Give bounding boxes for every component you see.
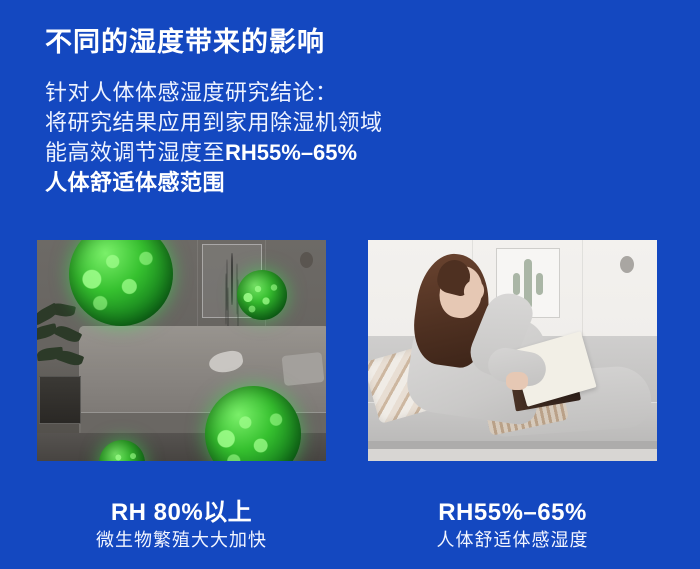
comparison-panels [37,240,663,461]
caption-subtitle: 微生物繁殖大大加快 [37,527,326,553]
intro-paragraph: 针对人体体感湿度研究结论： 将研究结果应用到家用除湿机领域 能高效调节湿度至RH… [45,78,383,198]
wall-knob-icon [300,252,313,268]
dark-room-scene [37,240,326,461]
microbe-cluster-icon [69,240,173,326]
floor-light [368,449,657,461]
caption-high-humidity: RH 80%以上 微生物繁殖大大加快 [37,498,326,553]
body-line-3-prefix: 能高效调节湿度至 [45,140,225,165]
leaf-icon [54,323,83,345]
caption-title: RH 80%以上 [37,498,326,527]
sofa-cushion [282,352,325,386]
body-line-1: 针对人体体感湿度研究结论： [45,78,383,108]
person-hand-holding-book [506,372,528,390]
microbe-cluster-icon [99,440,145,461]
light-room-scene [368,240,657,461]
microbe-cluster-icon [205,386,301,461]
page-title: 不同的湿度带来的影响 [45,20,325,59]
caption-title: RH55%–65% [368,498,657,527]
caption-subtitle: 人体舒适体感湿度 [368,527,657,553]
panel-high-humidity-image [37,240,326,461]
panel-comfort-humidity-image [368,240,657,461]
plant-pot [39,376,81,424]
microbe-cluster-icon [237,270,287,320]
body-line-4: 人体舒适体感范围 [45,168,383,198]
wall-knob-icon [620,256,634,273]
humidity-infographic-poster: 不同的湿度带来的影响 针对人体体感湿度研究结论： 将研究结果应用到家用除湿机领域… [0,0,700,569]
caption-comfort-humidity: RH55%–65% 人体舒适体感湿度 [368,498,657,553]
body-line-2: 将研究结果应用到家用除湿机领域 [45,108,383,138]
leaf-icon [56,348,85,368]
body-line-3: 能高效调节湿度至RH55%–65% [45,138,383,168]
humidity-range-highlight: RH55%–65% [225,140,357,165]
dried-plant-icon [231,253,233,305]
